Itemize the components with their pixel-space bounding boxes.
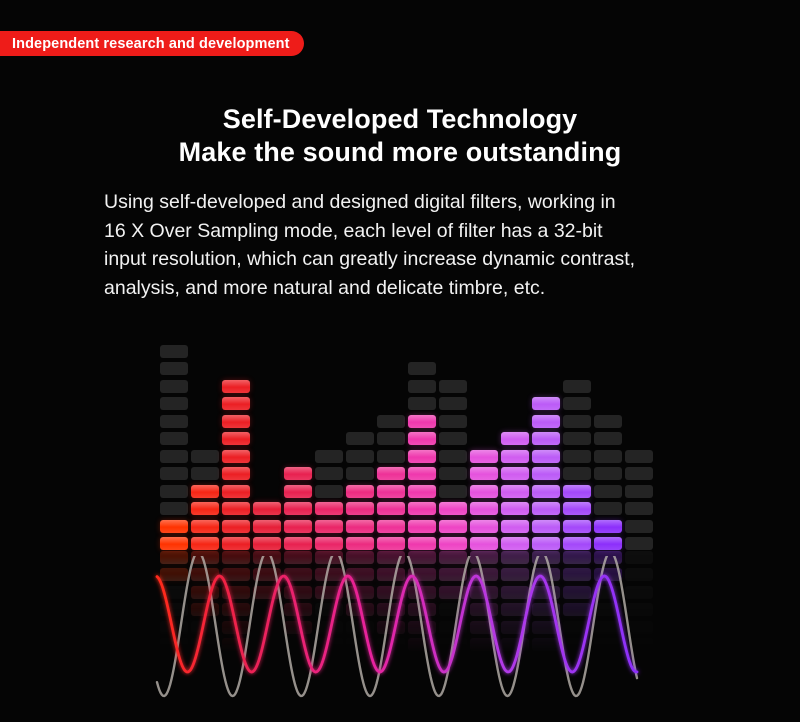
equalizer-segment-unlit — [563, 380, 591, 393]
equalizer-column — [408, 338, 436, 550]
equalizer-segment-lit — [408, 520, 436, 533]
equalizer-segment-lit — [284, 467, 312, 480]
equalizer-segment-unlit — [377, 415, 405, 428]
equalizer-segment-lit — [470, 485, 498, 498]
equalizer-segment-lit — [408, 502, 436, 515]
equalizer-segment-unlit — [315, 450, 343, 463]
category-badge: Independent research and development — [0, 31, 304, 56]
equalizer-segment-lit — [594, 520, 622, 533]
equalizer-column — [222, 338, 250, 550]
equalizer-segment-lit — [532, 520, 560, 533]
equalizer-segment-unlit — [563, 415, 591, 428]
equalizer-segment-lit — [346, 485, 374, 498]
equalizer-segment-unlit — [625, 450, 653, 463]
equalizer-segment-unlit — [625, 485, 653, 498]
equalizer-segment-lit — [346, 537, 374, 550]
equalizer-segment-lit — [222, 467, 250, 480]
equalizer-segment-lit — [439, 537, 467, 550]
equalizer-segment-lit — [160, 520, 188, 533]
equalizer-column — [253, 338, 281, 550]
equalizer-column — [563, 338, 591, 550]
equalizer-segment-lit — [532, 397, 560, 410]
description-paragraph: Using self-developed and designed digita… — [104, 188, 714, 302]
equalizer-segment-unlit — [408, 397, 436, 410]
category-badge-label: Independent research and development — [12, 36, 290, 52]
equalizer-segment-lit — [532, 467, 560, 480]
equalizer-segment-unlit — [346, 432, 374, 445]
equalizer-column — [594, 338, 622, 550]
equalizer-segment-unlit — [160, 432, 188, 445]
reference-sine-curve — [157, 556, 637, 696]
equalizer-segment-lit — [408, 450, 436, 463]
equalizer-segment-lit — [315, 520, 343, 533]
equalizer-segment-lit — [470, 467, 498, 480]
equalizer-segment-lit — [470, 450, 498, 463]
equalizer-column — [377, 338, 405, 550]
equalizer-column — [284, 338, 312, 550]
equalizer-segment-unlit — [315, 467, 343, 480]
description-line-3: input resolution, which can greatly incr… — [104, 245, 714, 274]
equalizer-segment-lit — [501, 502, 529, 515]
equalizer-segment-unlit — [439, 450, 467, 463]
equalizer-segment-unlit — [191, 450, 219, 463]
equalizer-segment-unlit — [160, 415, 188, 428]
equalizer-segment-unlit — [594, 432, 622, 445]
equalizer-segment-unlit — [439, 432, 467, 445]
equalizer-segment-lit — [222, 432, 250, 445]
equalizer-segment-lit — [191, 502, 219, 515]
equalizer-column — [501, 338, 529, 550]
equalizer-segment-unlit — [594, 467, 622, 480]
equalizer-column — [346, 338, 374, 550]
equalizer-segment-unlit — [346, 467, 374, 480]
equalizer-segment-unlit — [439, 467, 467, 480]
equalizer-segment-unlit — [439, 415, 467, 428]
equalizer-segment-unlit — [594, 450, 622, 463]
equalizer-segment-unlit — [439, 397, 467, 410]
equalizer-segment-unlit — [160, 502, 188, 515]
equalizer-segment-lit — [222, 415, 250, 428]
equalizer-column — [439, 338, 467, 550]
equalizer-segment-unlit — [563, 467, 591, 480]
equalizer-segment-unlit — [191, 467, 219, 480]
equalizer-segment-unlit — [377, 432, 405, 445]
equalizer-segment-unlit — [563, 432, 591, 445]
description-line-2: 16 X Over Sampling mode, each level of f… — [104, 217, 714, 246]
equalizer-segment-lit — [501, 450, 529, 463]
equalizer-column — [315, 338, 343, 550]
equalizer-column — [470, 338, 498, 550]
page-title-line-1: Self-Developed Technology — [0, 103, 800, 136]
equalizer-segment-lit — [532, 502, 560, 515]
equalizer-segment-unlit — [160, 485, 188, 498]
equalizer-segment-lit — [191, 485, 219, 498]
equalizer-segment-unlit — [563, 450, 591, 463]
equalizer-segment-unlit — [160, 450, 188, 463]
equalizer-segment-lit — [563, 502, 591, 515]
equalizer-segment-unlit — [594, 502, 622, 515]
equalizer-column — [191, 338, 219, 550]
equalizer-segment-lit — [408, 485, 436, 498]
equalizer-segment-unlit — [625, 520, 653, 533]
equalizer-column — [160, 338, 188, 550]
equalizer-segment-lit — [377, 537, 405, 550]
equalizer-segment-unlit — [377, 450, 405, 463]
equalizer-segment-unlit — [625, 537, 653, 550]
equalizer-segment-unlit — [160, 380, 188, 393]
description-line-4: analysis, and more natural and delicate … — [104, 274, 714, 303]
equalizer-segment-lit — [222, 397, 250, 410]
equalizer-segment-lit — [532, 485, 560, 498]
equalizer-segment-unlit — [160, 467, 188, 480]
equalizer-segment-lit — [284, 485, 312, 498]
promo-page: Independent research and development Sel… — [0, 0, 800, 722]
page-title: Self-Developed Technology Make the sound… — [0, 103, 800, 169]
equalizer-segment-lit — [563, 485, 591, 498]
equalizer-segment-lit — [408, 537, 436, 550]
equalizer-segment-lit — [501, 432, 529, 445]
equalizer-segment-lit — [346, 520, 374, 533]
equalizer-segment-lit — [222, 502, 250, 515]
equalizer-segment-lit — [253, 502, 281, 515]
equalizer-segment-unlit — [439, 380, 467, 393]
equalizer-column — [532, 338, 560, 550]
equalizer-segment-unlit — [315, 485, 343, 498]
equalizer-segment-unlit — [408, 362, 436, 375]
equalizer-segment-unlit — [346, 450, 374, 463]
equalizer-segment-lit — [315, 502, 343, 515]
equalizer-segment-lit — [377, 502, 405, 515]
equalizer-segment-lit — [377, 485, 405, 498]
equalizer-chart — [160, 338, 656, 550]
page-title-line-2: Make the sound more outstanding — [0, 136, 800, 169]
equalizer-segment-unlit — [160, 362, 188, 375]
equalizer-segment-lit — [563, 537, 591, 550]
equalizer-segment-lit — [315, 537, 343, 550]
equalizer-segment-unlit — [625, 502, 653, 515]
equalizer-segment-lit — [408, 467, 436, 480]
equalizer-segment-lit — [222, 485, 250, 498]
equalizer-segment-lit — [532, 537, 560, 550]
equalizer-segment-lit — [253, 537, 281, 550]
equalizer-segment-unlit — [594, 415, 622, 428]
equalizer-segment-lit — [377, 520, 405, 533]
equalizer-segment-lit — [563, 520, 591, 533]
equalizer-column — [625, 338, 653, 550]
equalizer-segment-lit — [222, 520, 250, 533]
equalizer-segment-lit — [408, 415, 436, 428]
equalizer-segment-lit — [346, 502, 374, 515]
equalizer-segment-unlit — [563, 397, 591, 410]
equalizer-segment-lit — [191, 537, 219, 550]
equalizer-segment-lit — [408, 432, 436, 445]
equalizer-segment-lit — [160, 537, 188, 550]
equalizer-segment-lit — [284, 520, 312, 533]
equalizer-segment-lit — [501, 467, 529, 480]
equalizer-segment-lit — [532, 450, 560, 463]
equalizer-segment-lit — [470, 520, 498, 533]
equalizer-segment-unlit — [160, 345, 188, 358]
equalizer-segment-lit — [501, 485, 529, 498]
equalizer-segment-lit — [501, 537, 529, 550]
equalizer-segment-lit — [222, 380, 250, 393]
equalizer-segment-lit — [253, 520, 281, 533]
equalizer-segment-unlit — [439, 485, 467, 498]
equalizer-segment-unlit — [594, 485, 622, 498]
equalizer-segment-lit — [284, 502, 312, 515]
waveform-graphic — [140, 556, 670, 716]
equalizer-segment-unlit — [160, 397, 188, 410]
equalizer-segment-lit — [222, 537, 250, 550]
equalizer-segment-lit — [191, 520, 219, 533]
equalizer-segment-lit — [470, 502, 498, 515]
equalizer-segment-lit — [439, 502, 467, 515]
equalizer-segment-unlit — [408, 380, 436, 393]
equalizer-segment-lit — [594, 537, 622, 550]
equalizer-segment-lit — [377, 467, 405, 480]
equalizer-segment-lit — [284, 537, 312, 550]
description-line-1: Using self-developed and designed digita… — [104, 188, 714, 217]
equalizer-segment-lit — [470, 537, 498, 550]
equalizer-segment-lit — [439, 520, 467, 533]
equalizer-segment-lit — [532, 432, 560, 445]
equalizer-segment-lit — [501, 520, 529, 533]
waveform-svg — [140, 556, 670, 716]
equalizer-segment-lit — [222, 450, 250, 463]
equalizer-segment-unlit — [625, 467, 653, 480]
equalizer-segment-lit — [532, 415, 560, 428]
